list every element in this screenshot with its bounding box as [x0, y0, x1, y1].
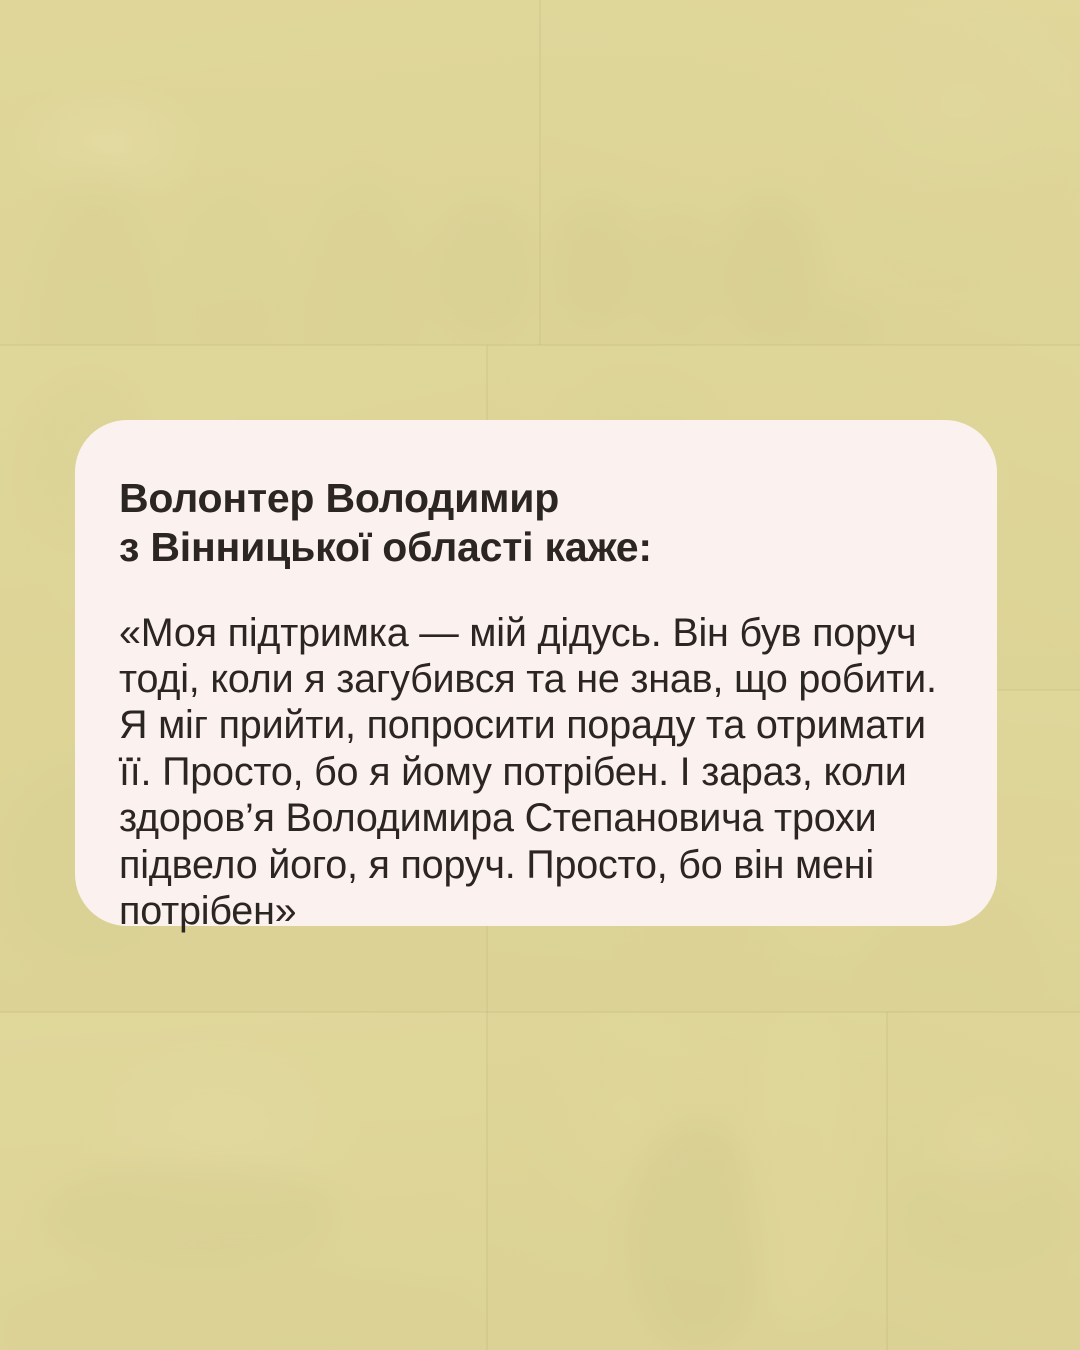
collage-seam-vertical-bottom: [486, 1012, 488, 1350]
collage-seam-vertical-bottomright: [886, 1012, 888, 1350]
photo-tile-audience-standing: [887, 1012, 1080, 1350]
photo-tile-audience-seated: [540, 0, 1080, 345]
photo-tile-speaker-projection: [487, 1012, 887, 1350]
quote-heading: Волонтер Володимир з Вінницької області …: [119, 474, 939, 572]
quote-card: Волонтер Володимир з Вінницької області …: [75, 420, 997, 926]
collage-seam-horizontal-bottom: [0, 1011, 1080, 1013]
collage-seam-vertical-top: [539, 0, 541, 345]
post-canvas: Волонтер Володимир з Вінницької області …: [0, 0, 1080, 1350]
photo-tile-exhibition-easels: [0, 0, 540, 345]
quote-body-text: «Моя підтримка — мій дідусь. Він був пор…: [119, 610, 939, 935]
photo-tile-group-photo-hall: [0, 1012, 487, 1350]
